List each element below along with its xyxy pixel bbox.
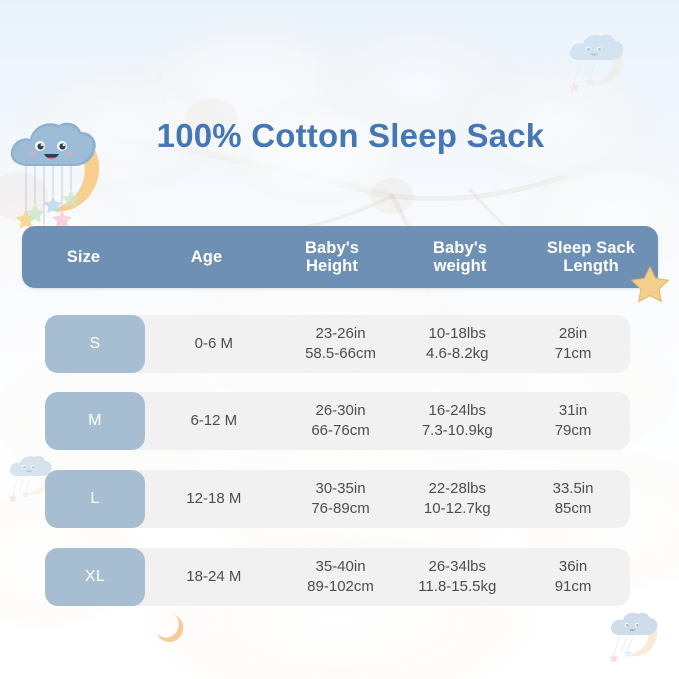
cell-weight: 26-34lbs 11.8-15.5kg bbox=[398, 557, 516, 597]
column-header-height-line2: Height bbox=[306, 257, 358, 275]
column-header-weight-line2: weight bbox=[434, 257, 487, 275]
cell-length: 31in 79cm bbox=[516, 401, 630, 441]
cell-weight-kg: 10-12.7kg bbox=[398, 499, 516, 519]
cell-height-in: 23-26in bbox=[316, 325, 366, 342]
cell-weight: 16-24lbs 7.3-10.9kg bbox=[398, 401, 516, 441]
cell-length-cm: 71cm bbox=[516, 344, 630, 364]
column-header-length: Sleep Sack Length bbox=[524, 239, 658, 276]
cell-weight-kg: 11.8-15.5kg bbox=[398, 577, 516, 597]
cell-length: 28in 71cm bbox=[516, 324, 630, 364]
table-header-row: Size Age Baby's Height Baby's weight Sle… bbox=[22, 226, 658, 288]
cell-weight-lbs: 22-28lbs bbox=[428, 480, 486, 497]
cloud-moon-icon bbox=[565, 30, 631, 92]
cell-weight: 22-28lbs 10-12.7kg bbox=[398, 479, 516, 519]
cell-length-in: 28in bbox=[559, 325, 587, 342]
cell-weight-lbs: 16-24lbs bbox=[428, 402, 486, 419]
cell-height-cm: 58.5-66cm bbox=[283, 344, 399, 364]
cell-weight-lbs: 10-18lbs bbox=[428, 325, 486, 342]
size-badge: XL bbox=[45, 548, 145, 606]
cell-height: 23-26in 58.5-66cm bbox=[283, 324, 399, 364]
cell-length-in: 31in bbox=[559, 402, 587, 419]
cell-weight-kg: 4.6-8.2kg bbox=[398, 344, 516, 364]
cell-weight: 10-18lbs 4.6-8.2kg bbox=[398, 324, 516, 364]
cell-age: 0-6 M bbox=[145, 334, 283, 354]
cell-weight-lbs: 26-34lbs bbox=[428, 558, 486, 575]
cell-length-in: 36in bbox=[559, 558, 587, 575]
column-header-weight-line1: Baby's bbox=[433, 239, 487, 257]
cell-height: 35-40in 89-102cm bbox=[283, 557, 399, 597]
cell-height-in: 35-40in bbox=[316, 558, 366, 575]
table-row: S 0-6 M 23-26in 58.5-66cm 10-18lbs 4.6-8… bbox=[45, 315, 630, 373]
cloud-moon-icon bbox=[607, 608, 663, 662]
cell-length-cm: 79cm bbox=[516, 421, 630, 441]
size-badge: S bbox=[45, 315, 145, 373]
table-row: M 6-12 M 26-30in 66-76cm 16-24lbs 7.3-10… bbox=[45, 392, 630, 450]
table-row: L 12-18 M 30-35in 76-89cm 22-28lbs 10-12… bbox=[45, 470, 630, 528]
cell-height: 26-30in 66-76cm bbox=[283, 401, 399, 441]
cell-length-cm: 91cm bbox=[516, 577, 630, 597]
column-header-length-line2: Length bbox=[563, 257, 619, 275]
column-header-length-line1: Sleep Sack bbox=[547, 239, 635, 257]
column-header-age: Age bbox=[145, 248, 268, 266]
cell-height-in: 26-30in bbox=[316, 402, 366, 419]
page-title: 100% Cotton Sleep Sack bbox=[0, 117, 679, 155]
cell-age: 6-12 M bbox=[145, 411, 283, 431]
table-row: XL 18-24 M 35-40in 89-102cm 26-34lbs 11.… bbox=[45, 548, 630, 606]
size-badge: L bbox=[45, 470, 145, 528]
cell-height-cm: 76-89cm bbox=[283, 499, 399, 519]
cell-age: 18-24 M bbox=[145, 567, 283, 587]
cell-length-cm: 85cm bbox=[516, 499, 630, 519]
cell-length: 36in 91cm bbox=[516, 557, 630, 597]
cell-height-cm: 89-102cm bbox=[283, 577, 399, 597]
column-header-size: Size bbox=[22, 248, 145, 266]
cell-height-in: 30-35in bbox=[316, 480, 366, 497]
cell-height-cm: 66-76cm bbox=[283, 421, 399, 441]
column-header-weight: Baby's weight bbox=[396, 239, 524, 276]
cell-length: 33.5in 85cm bbox=[516, 479, 630, 519]
cell-height: 30-35in 76-89cm bbox=[283, 479, 399, 519]
cell-weight-kg: 7.3-10.9kg bbox=[398, 421, 516, 441]
sizing-chart-page: 100% Cotton Sleep Sack Size Age Baby's H… bbox=[0, 0, 679, 679]
crescent-moon-icon bbox=[155, 613, 185, 643]
cell-age: 12-18 M bbox=[145, 489, 283, 509]
cell-length-in: 33.5in bbox=[553, 480, 594, 497]
column-header-height: Baby's Height bbox=[268, 239, 396, 276]
size-badge: M bbox=[45, 392, 145, 450]
column-header-height-line1: Baby's bbox=[305, 239, 359, 257]
